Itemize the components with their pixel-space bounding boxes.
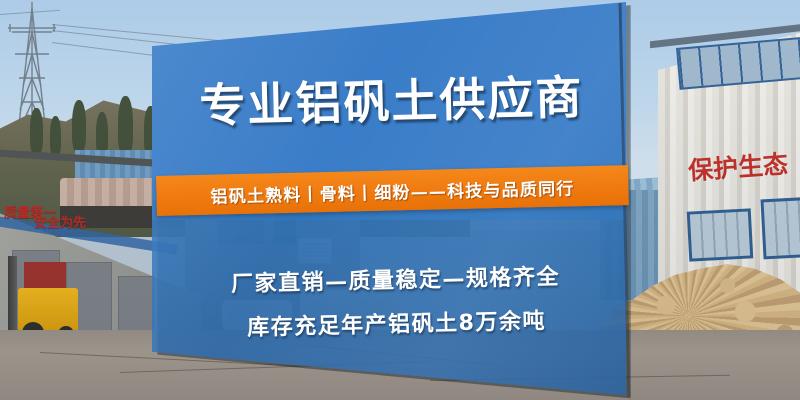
banner-copy: 专业铝矾土供应商 铝矾土熟料丨骨料丨细粉——科技与品质同行 厂家直销—质量稳定—… [152, 0, 635, 398]
subtitle-line-2: 库存充足年产铝矾土8万余吨 [159, 301, 634, 344]
page-title: 专业铝矾土供应商 [154, 73, 629, 130]
subtitle-line-1: 厂家直销—质量稳定—规格齐全 [158, 257, 633, 300]
highlight-bar: 铝矾土熟料丨骨料丨细粉——科技与品质同行 [156, 165, 629, 216]
highlight-bar-text: 铝矾土熟料丨骨料丨细粉——科技与品质同行 [210, 174, 574, 207]
promo-banner: 质量第一 安全为先 保护生态 [0, 0, 800, 400]
